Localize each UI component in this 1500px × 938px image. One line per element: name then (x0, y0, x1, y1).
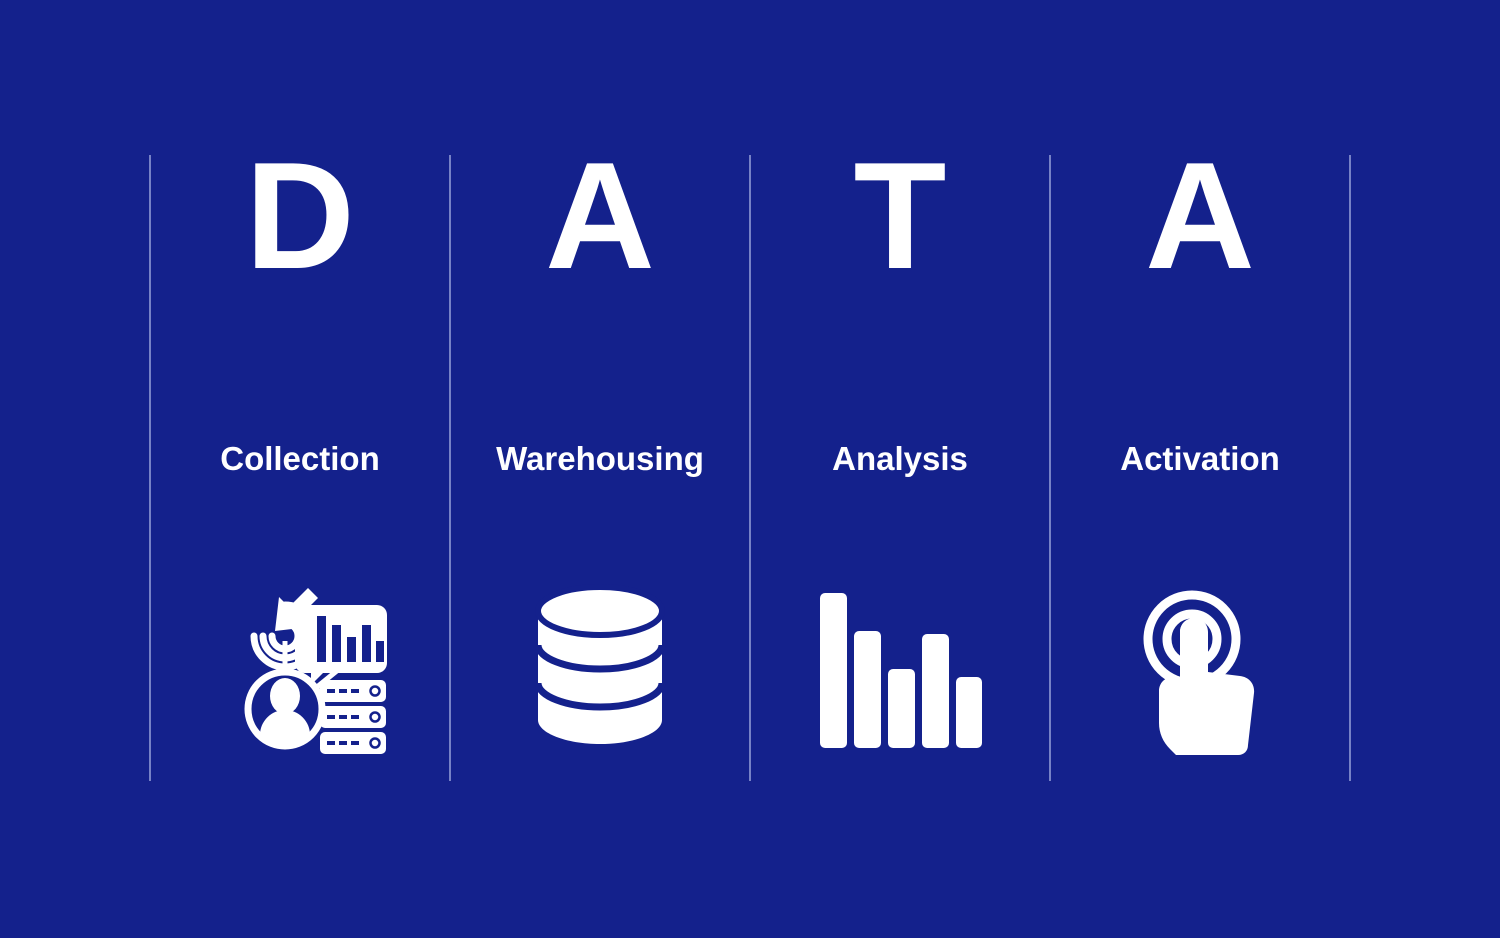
pillar-label-activation: Activation (1050, 442, 1350, 475)
pillar-warehousing: A Warehousing (450, 155, 750, 781)
pillar-analysis: T Analysis (750, 155, 1050, 781)
bar-1 (820, 593, 847, 748)
pillar-label-warehousing: Warehousing (450, 442, 750, 475)
data-pillars-row: D Collection (150, 155, 1350, 781)
bar-5 (956, 677, 982, 748)
bar-3 (888, 669, 915, 748)
bar-4 (922, 634, 949, 748)
infographic-canvas: D Collection (0, 0, 1500, 938)
data-collection-icon (150, 583, 450, 758)
pillar-label-collection: Collection (150, 442, 450, 475)
pillar-label-analysis: Analysis (750, 442, 1050, 475)
pillar-letter-d: D (150, 140, 450, 292)
database-cylinder-icon (450, 583, 750, 758)
pillar-letter-t: T (750, 140, 1050, 292)
pillar-activation: A Activation (1050, 155, 1350, 781)
pillar-letter-a2: A (1050, 140, 1350, 292)
bar-chart-icon (750, 583, 1050, 758)
tap-hand-icon (1050, 583, 1350, 758)
bar-2 (854, 631, 881, 748)
pillar-collection: D Collection (150, 155, 450, 781)
pillar-letter-a1: A (450, 140, 750, 292)
